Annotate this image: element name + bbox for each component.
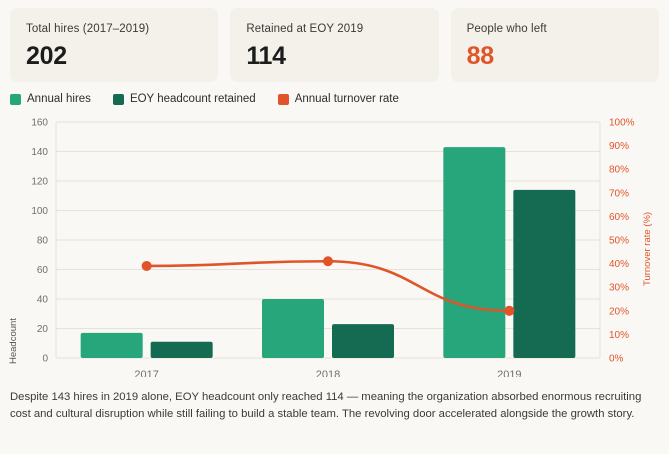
line-data-point[interactable] xyxy=(323,256,333,266)
legend-swatch-icon xyxy=(278,94,289,105)
y-tick-label: 80 xyxy=(37,236,49,247)
bar[interactable] xyxy=(262,299,324,358)
y-tick-label: 140 xyxy=(31,147,48,158)
legend-item-turnover-rate[interactable]: Annual turnover rate xyxy=(278,93,399,105)
y2-tick-label: 20% xyxy=(609,306,629,317)
bar-series-layer xyxy=(81,147,576,358)
legend-label: EOY headcount retained xyxy=(130,93,256,105)
y2-tick-label: 60% xyxy=(609,212,629,223)
kpi-label: Total hires (2017–2019) xyxy=(26,22,202,36)
chart-footnote: Despite 143 hires in 2019 alone, EOY hea… xyxy=(0,377,669,423)
y2-tick-label: 30% xyxy=(609,283,629,294)
y2-tick-label: 40% xyxy=(609,259,629,270)
kpi-card-total-hires: Total hires (2017–2019) 202 xyxy=(10,8,218,82)
kpi-value: 88 xyxy=(467,41,643,71)
y2-axis-title: Turnover rate (%) xyxy=(642,212,653,286)
y-tick-label: 0 xyxy=(42,354,48,365)
x-tick-label: 2017 xyxy=(134,369,158,377)
kpi-value: 202 xyxy=(26,41,202,71)
combo-chart: 020406080100120140160 0%10%20%30%40%50%6… xyxy=(0,111,669,377)
kpi-label: Retained at EOY 2019 xyxy=(246,22,422,36)
bar[interactable] xyxy=(443,147,505,358)
y2-tick-label: 80% xyxy=(609,165,629,176)
y2-tick-label: 10% xyxy=(609,330,629,341)
y-tick-label: 60 xyxy=(37,265,49,276)
y-tick-label: 40 xyxy=(37,295,49,306)
y-tick-label: 100 xyxy=(31,206,48,217)
legend-item-eoy-retained[interactable]: EOY headcount retained xyxy=(113,93,256,105)
line-data-point[interactable] xyxy=(142,261,152,271)
y-tick-label: 20 xyxy=(37,324,49,335)
kpi-value: 114 xyxy=(246,41,422,71)
chart-container: 020406080100120140160 0%10%20%30%40%50%6… xyxy=(0,111,669,377)
x-tick-label: 2018 xyxy=(316,369,340,377)
y2-tick-label: 70% xyxy=(609,188,629,199)
legend-label: Annual turnover rate xyxy=(295,93,399,105)
chart-legend: Annual hires EOY headcount retained Annu… xyxy=(0,82,669,105)
y-tick-label: 120 xyxy=(31,177,48,188)
kpi-label: People who left xyxy=(467,22,643,36)
y2-tick-label: 0% xyxy=(609,354,624,365)
x-tick-label: 2019 xyxy=(497,369,521,377)
kpi-card-row: Total hires (2017–2019) 202 Retained at … xyxy=(0,0,669,82)
bar[interactable] xyxy=(81,333,143,358)
y2-tick-label: 50% xyxy=(609,236,629,247)
y2-tick-label: 100% xyxy=(609,118,635,129)
legend-swatch-icon xyxy=(113,94,124,105)
bar[interactable] xyxy=(332,324,394,358)
y2-tick-label: 90% xyxy=(609,141,629,152)
bar[interactable] xyxy=(151,342,213,358)
y-tick-label: 160 xyxy=(31,118,48,129)
y-axis-ticks: 020406080100120140160 xyxy=(31,118,48,365)
legend-item-annual-hires[interactable]: Annual hires xyxy=(10,93,91,105)
legend-label: Annual hires xyxy=(27,93,91,105)
y2-axis-ticks: 0%10%20%30%40%50%60%70%80%90%100% xyxy=(609,118,635,365)
line-data-point[interactable] xyxy=(504,306,514,316)
bar[interactable] xyxy=(513,190,575,358)
kpi-card-people-left: People who left 88 xyxy=(451,8,659,82)
y-axis-title: Headcount xyxy=(8,318,19,364)
x-axis-labels: 201720182019 xyxy=(134,369,521,377)
kpi-card-retained: Retained at EOY 2019 114 xyxy=(230,8,438,82)
legend-swatch-icon xyxy=(10,94,21,105)
